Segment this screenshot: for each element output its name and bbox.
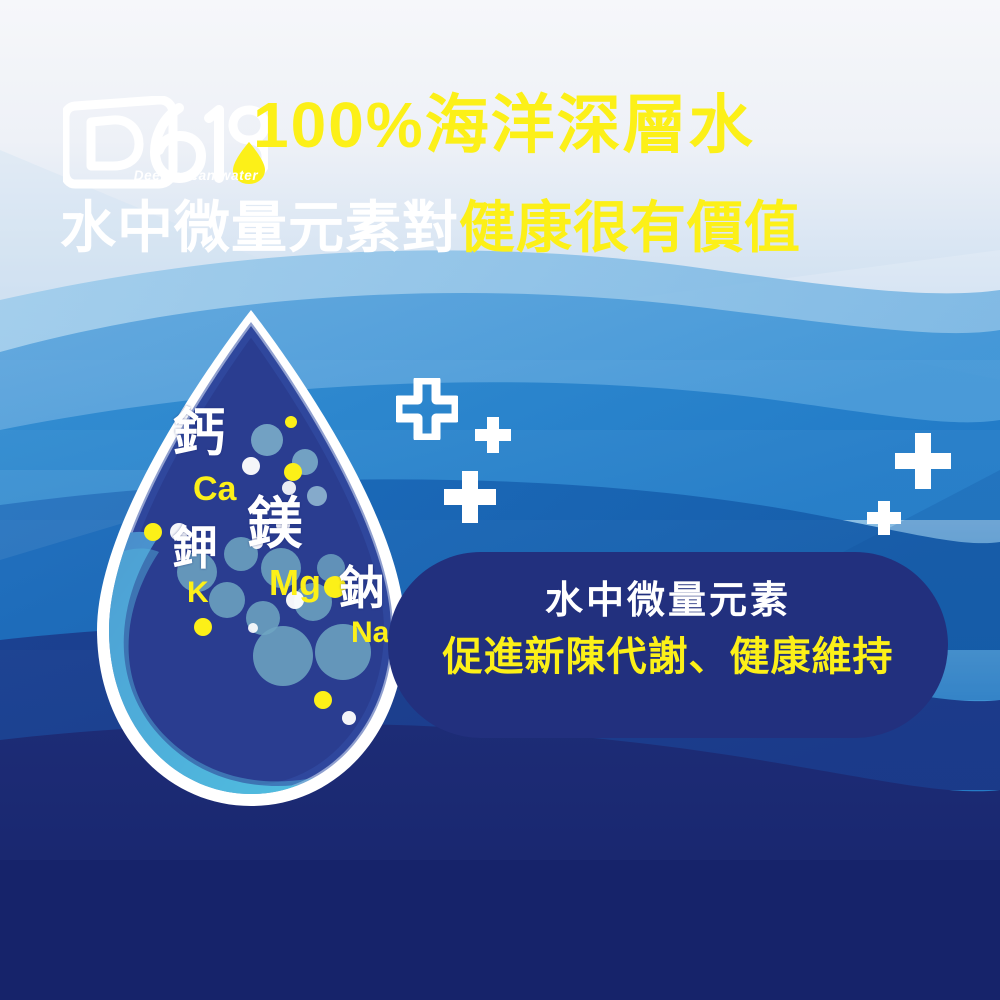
- bubble: [251, 424, 283, 456]
- bubble-yellow: [144, 523, 162, 541]
- headline-line-2: 水中微量元素對健康很有價值: [60, 200, 801, 256]
- poster-canvas: Deep ocean water 100%海洋深層水 水中微量元素對健康很有價值: [0, 0, 1000, 1000]
- bubble-yellow: [284, 463, 302, 481]
- mineral-symbol-potassium: K: [187, 578, 209, 608]
- bubble-yellow: [285, 416, 297, 428]
- mineral-symbol-sodium: Na: [351, 618, 389, 648]
- droplet-svg: [55, 300, 455, 840]
- benefit-panel-line-1: 水中微量元素: [388, 582, 948, 620]
- logo-tagline: Deep ocean water: [116, 168, 276, 183]
- headline-line-2-white: 水中微量元素對: [60, 196, 459, 259]
- brand-logo: Deep ocean water: [63, 96, 268, 196]
- bubble: [342, 711, 356, 725]
- mineral-name-potassium: 鉀: [172, 525, 219, 571]
- bubble: [248, 623, 258, 633]
- headline-line-2-yellow: 健康很有價值: [459, 196, 801, 259]
- mineral-name-calcium: 鈣: [173, 408, 226, 460]
- mineral-symbol-magnesium: Mg: [269, 565, 321, 601]
- bubble: [307, 486, 327, 506]
- plus-icon-small-b: [866, 500, 902, 536]
- bubble: [253, 626, 313, 686]
- bubble-yellow: [194, 618, 212, 636]
- mineral-name-magnesium: 鎂: [247, 496, 304, 552]
- bubble: [209, 582, 245, 618]
- bubble-yellow: [314, 691, 332, 709]
- plus-icon-large-right: [894, 432, 952, 490]
- benefit-panel-line-2: 促進新陳代謝、健康維持: [388, 637, 948, 677]
- bubble: [242, 457, 260, 475]
- mineral-symbol-calcium: Ca: [193, 472, 236, 506]
- mineral-name-sodium: 鈉: [339, 565, 386, 611]
- headline-line-1-text: 100%海洋深層水: [253, 89, 755, 161]
- plus-icon-small-a: [474, 416, 512, 454]
- water-droplet-graphic: 鈣 Ca 鎂 Mg 鉀 K 鈉 Na: [55, 300, 455, 840]
- headline-line-1: 100%海洋深層水: [253, 93, 755, 157]
- header: Deep ocean water 100%海洋深層水 水中微量元素對健康很有價值: [0, 0, 1000, 280]
